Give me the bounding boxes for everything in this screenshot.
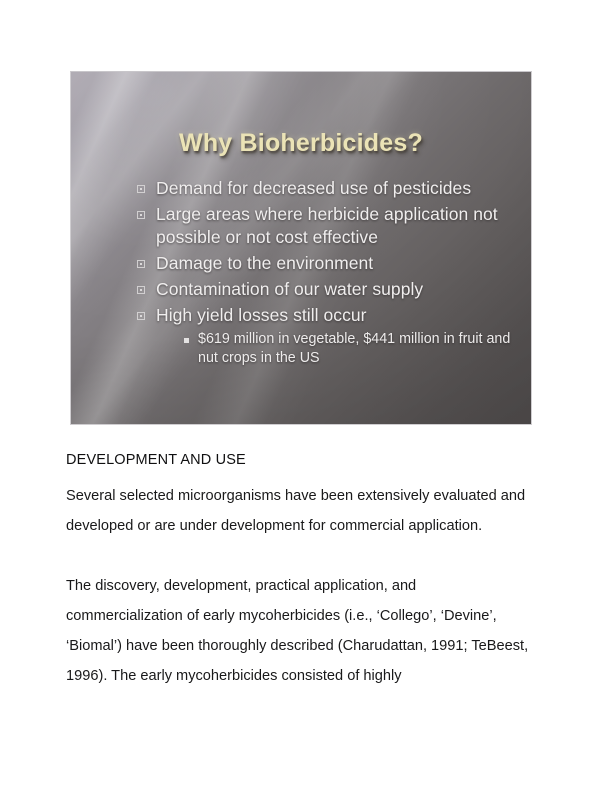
slide-content: Why Bioherbicides? Demand for decreased … xyxy=(71,72,531,424)
slide-figure: Why Bioherbicides? Demand for decreased … xyxy=(70,71,532,425)
sub-list-item: $619 million in vegetable, $441 million … xyxy=(184,330,517,368)
square-dot-bullet-icon xyxy=(137,312,145,320)
list-item: Demand for decreased use of pesticides xyxy=(137,177,517,200)
square-dot-bullet-icon xyxy=(137,185,145,193)
bullet-label: High yield losses still occur xyxy=(156,304,367,327)
square-dot-bullet-icon xyxy=(137,260,145,268)
sub-bullet-label: $619 million in vegetable, $441 million … xyxy=(198,330,517,368)
filled-square-bullet-icon xyxy=(184,338,189,343)
list-item: Damage to the environment xyxy=(137,252,517,275)
list-item: Large areas where herbicide application … xyxy=(137,203,517,249)
square-dot-bullet-icon xyxy=(137,211,145,219)
slide-title: Why Bioherbicides? xyxy=(71,129,531,158)
bullet-label: Contamination of our water supply xyxy=(156,278,423,301)
square-dot-bullet-icon xyxy=(137,286,145,294)
list-item: Contamination of our water supply xyxy=(137,278,517,301)
bullet-label: Demand for decreased use of pesticides xyxy=(156,177,471,200)
document-page: Why Bioherbicides? Demand for decreased … xyxy=(0,0,600,800)
section-heading: DEVELOPMENT AND USE xyxy=(66,450,532,470)
paragraph: The discovery, development, practical ap… xyxy=(66,571,532,691)
slide-bullet-list: Demand for decreased use of pesticides L… xyxy=(137,177,517,368)
paragraph: Several selected microorganisms have bee… xyxy=(66,481,532,541)
bullet-label: Damage to the environment xyxy=(156,252,373,275)
bullet-label: Large areas where herbicide application … xyxy=(156,203,517,249)
list-item: High yield losses still occur xyxy=(137,304,517,327)
document-text-body: DEVELOPMENT AND USE Several selected mic… xyxy=(66,450,532,691)
